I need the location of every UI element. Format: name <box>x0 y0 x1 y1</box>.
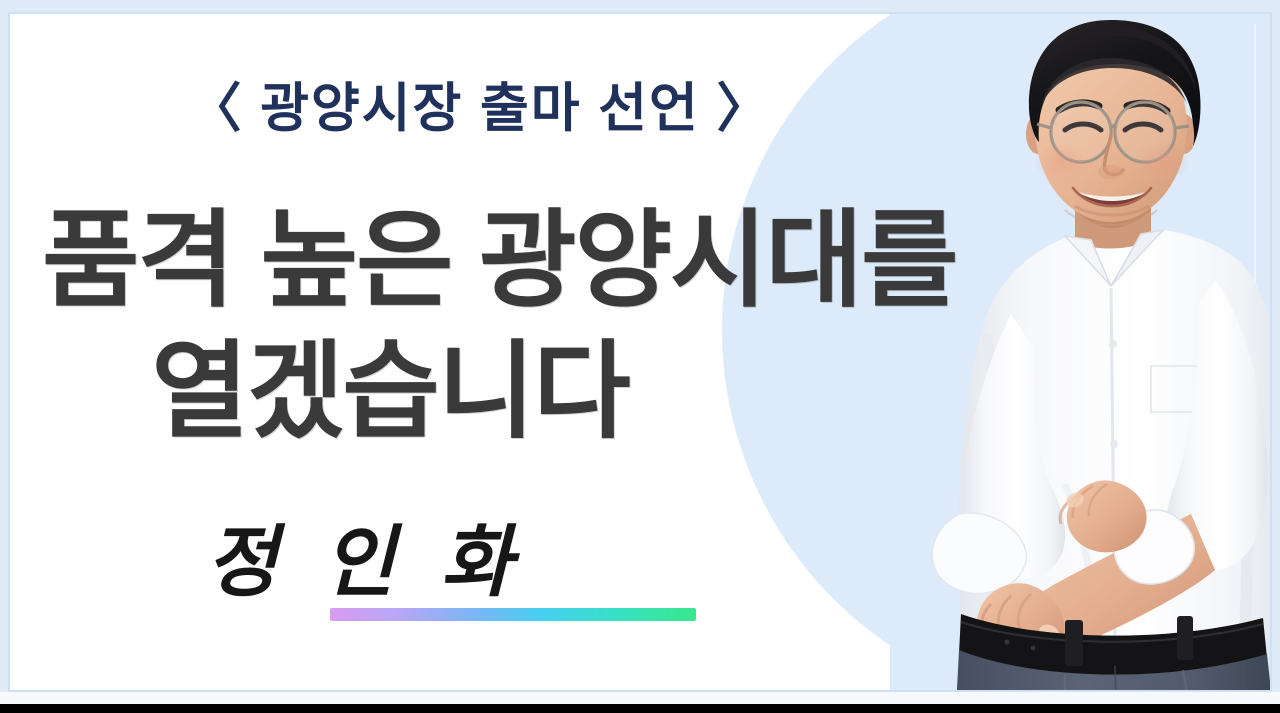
candidate-photo <box>915 14 1272 692</box>
headline-line-2: 열겠습니다 <box>10 341 1010 444</box>
name-underline-gradient <box>330 608 696 621</box>
letterbox-gap <box>0 692 1280 704</box>
headline-line-1: 품격 높은 광양시대를 <box>10 210 1010 313</box>
announcement-eyebrow: 〈 광양시장 출마 선언 〉 <box>10 66 950 142</box>
campaign-poster: 〈 광양시장 출마 선언 〉 품격 높은 광양시대를 열겠습니다 정 인 화 <box>0 0 1280 713</box>
candidate-name: 정 인 화 <box>10 500 1010 612</box>
poster-canvas: 〈 광양시장 출마 선언 〉 품격 높은 광양시대를 열겠습니다 정 인 화 <box>8 12 1272 692</box>
text-content: 〈 광양시장 출마 선언 〉 품격 높은 광양시대를 열겠습니다 정 인 화 <box>10 14 1010 690</box>
letterbox-bottom-bar <box>0 704 1280 713</box>
headline: 품격 높은 광양시대를 열겠습니다 <box>10 210 1010 444</box>
